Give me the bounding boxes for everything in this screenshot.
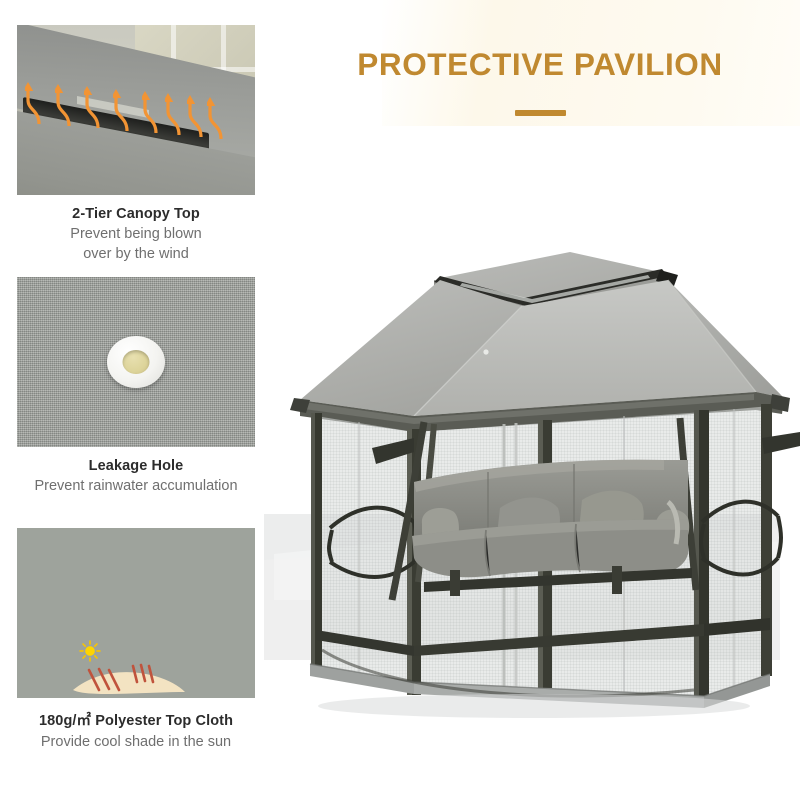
feature-description-line1: Prevent being blown (17, 224, 255, 244)
airflow-arrow-icon (55, 82, 77, 126)
airflow-arrow-icon (113, 87, 135, 131)
gazebo-illustration (264, 130, 800, 800)
feature-description-line2: over by the wind (17, 244, 255, 264)
feature-title: Leakage Hole (17, 458, 255, 474)
feature-description-line1: Provide cool shade in the sun (17, 732, 255, 752)
infographic-page: PROTECTIVE PAVILION (0, 0, 800, 800)
feature-block-leakage-hole: Leakage Hole Prevent rainwater accumulat… (17, 277, 255, 496)
feature-block-canopy: 2-Tier Canopy Top Prevent being blown ov… (17, 25, 255, 264)
title-underline-accent (515, 110, 566, 116)
feature-image-leakage-hole (17, 277, 255, 447)
feature-image-sun-shade (17, 528, 255, 698)
airflow-arrow-icon (187, 93, 209, 137)
shade-canopy-icon (69, 648, 189, 698)
grommet-hole (123, 350, 150, 374)
airflow-arrow-icon (84, 84, 106, 128)
feature-block-top-cloth: 180g/㎡ Polyester Top Cloth Provide cool … (17, 528, 255, 752)
feature-title: 2-Tier Canopy Top (17, 206, 255, 222)
feature-title: 180g/㎡ Polyester Top Cloth (17, 709, 255, 730)
page-title: PROTECTIVE PAVILION (300, 42, 780, 86)
feature-image-canopy-vent (17, 25, 255, 195)
feature-description-line1: Prevent rainwater accumulation (17, 476, 255, 496)
airflow-arrow-icon (207, 95, 229, 139)
airflow-arrow-icon (142, 89, 164, 133)
airflow-arrow-icon (165, 91, 187, 135)
product-image-gazebo (264, 130, 800, 800)
airflow-arrow-icon (25, 80, 47, 124)
